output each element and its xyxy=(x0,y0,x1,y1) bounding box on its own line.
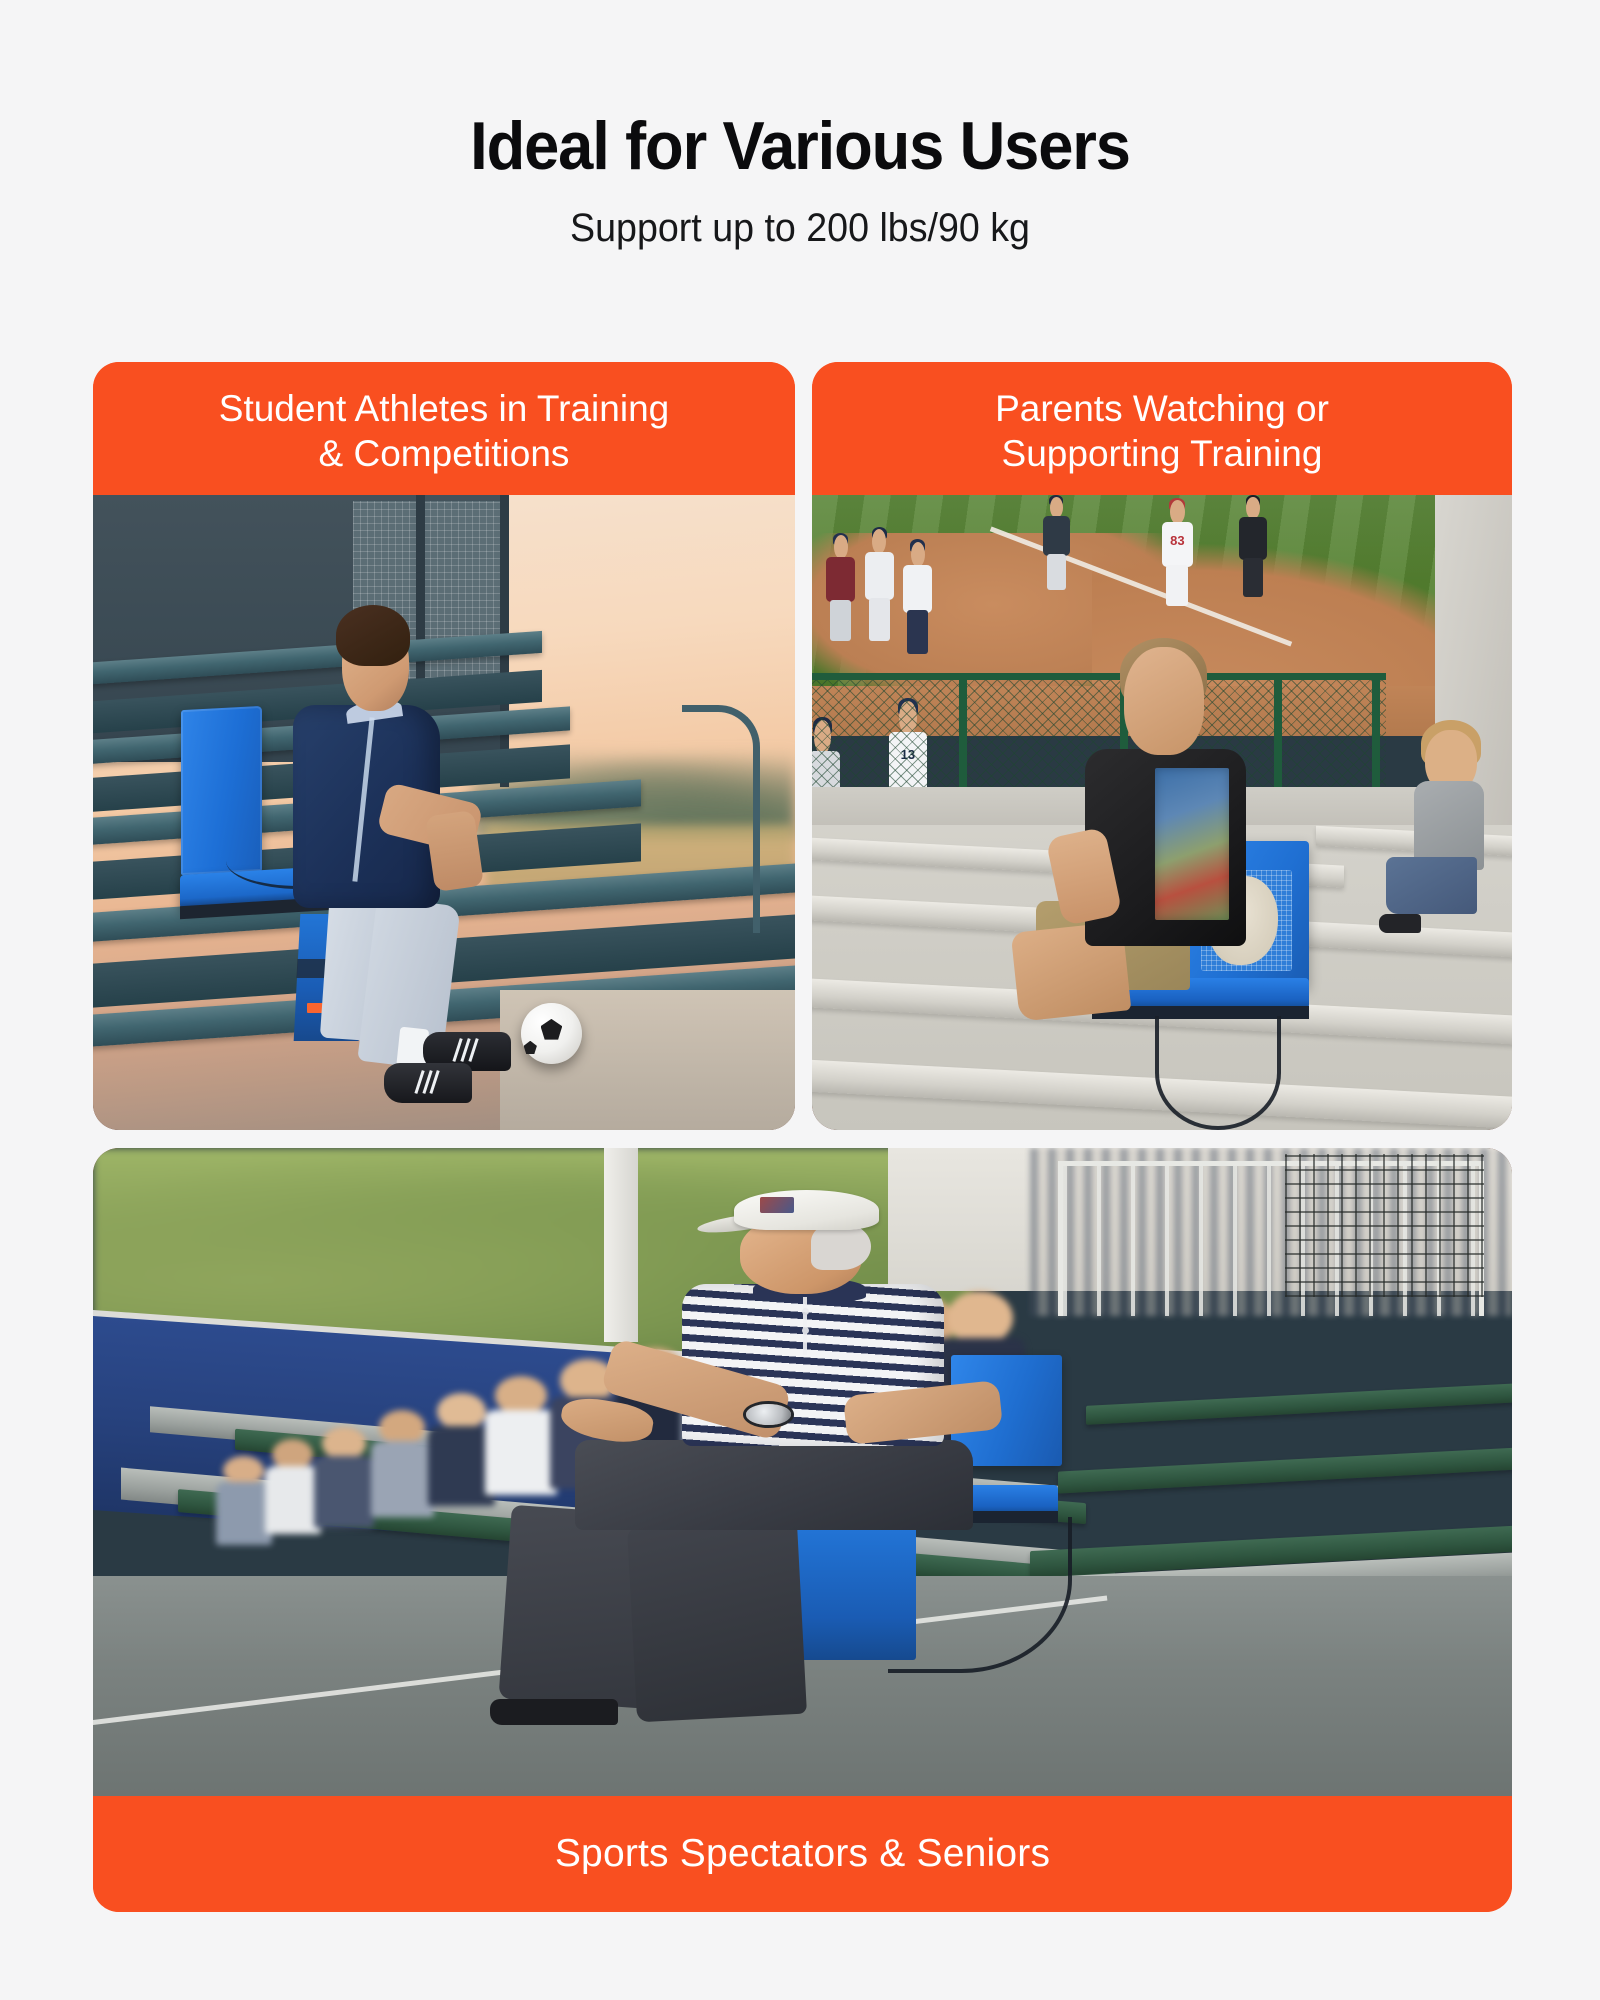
crowd-person xyxy=(379,1410,425,1513)
card-label-line-2: & Competitions xyxy=(319,433,570,474)
feature-card-student-athletes[interactable]: Student Athletes in Training & Competiti… xyxy=(93,362,795,1130)
crowd-person xyxy=(495,1376,548,1490)
player-figure xyxy=(1239,495,1267,597)
photo-senior-spectator xyxy=(93,1148,1512,1796)
protective-netting xyxy=(1285,1154,1484,1297)
card-label-line-1: Student Athletes in Training xyxy=(219,388,669,429)
card-label-spectators-seniors: Sports Spectators & Seniors xyxy=(93,1796,1512,1912)
player-figure-83: 83 xyxy=(1162,498,1193,606)
player-figure xyxy=(826,533,855,641)
spectator-shoe xyxy=(1379,914,1421,933)
tshirt-graphic-print xyxy=(1155,768,1229,920)
player-figure xyxy=(865,527,894,641)
senior-shoe xyxy=(490,1699,618,1725)
crowd-person xyxy=(322,1427,366,1524)
bleacher-bench xyxy=(1058,1446,1512,1493)
crowd-person xyxy=(272,1439,313,1530)
feature-card-parents-watching[interactable]: Parents Watching or Supporting Training xyxy=(812,362,1512,1130)
page-header: Ideal for Various Users Support up to 20… xyxy=(0,0,1600,250)
card-label-parents-watching: Parents Watching or Supporting Training xyxy=(812,362,1512,495)
spectator-jeans xyxy=(1386,857,1477,914)
white-ball-cap xyxy=(734,1190,879,1230)
page-title: Ideal for Various Users xyxy=(56,112,1544,180)
fence-top-rail xyxy=(812,673,1386,680)
athlete-shoe xyxy=(384,1063,472,1102)
player-figure xyxy=(903,539,932,653)
athlete-hair xyxy=(336,605,410,666)
product-feature-page: Ideal for Various Users Support up to 20… xyxy=(0,0,1600,2000)
bleacher-bench xyxy=(1086,1382,1512,1425)
soccer-ball xyxy=(521,1003,581,1064)
parent-head xyxy=(1124,647,1205,755)
senior-leg xyxy=(627,1520,807,1723)
wristwatch xyxy=(746,1404,791,1425)
page-subtitle: Support up to 200 lbs/90 kg xyxy=(48,206,1552,250)
card-label-line-2: Supporting Training xyxy=(1002,433,1323,474)
stadium-seat-shoulder-strap xyxy=(1155,1016,1281,1130)
crowd-person xyxy=(223,1456,264,1542)
polo-placket xyxy=(803,1297,807,1355)
player-figure xyxy=(1043,495,1070,590)
photo-parent-spectator: 83 13 xyxy=(812,495,1512,1130)
feature-card-spectators-seniors[interactable]: Sports Spectators & Seniors xyxy=(93,1148,1512,1912)
cap-logo xyxy=(760,1197,794,1213)
card-label-line-1: Parents Watching or xyxy=(995,388,1329,429)
card-label-student-athletes: Student Athletes in Training & Competiti… xyxy=(93,362,795,495)
athlete-forearm xyxy=(425,809,484,891)
jersey-number-83: 83 xyxy=(1162,533,1193,548)
photo-student-athlete xyxy=(93,495,795,1130)
senior-trousers xyxy=(575,1440,972,1531)
crowd-person xyxy=(437,1393,486,1501)
stair-handrail xyxy=(682,705,760,934)
